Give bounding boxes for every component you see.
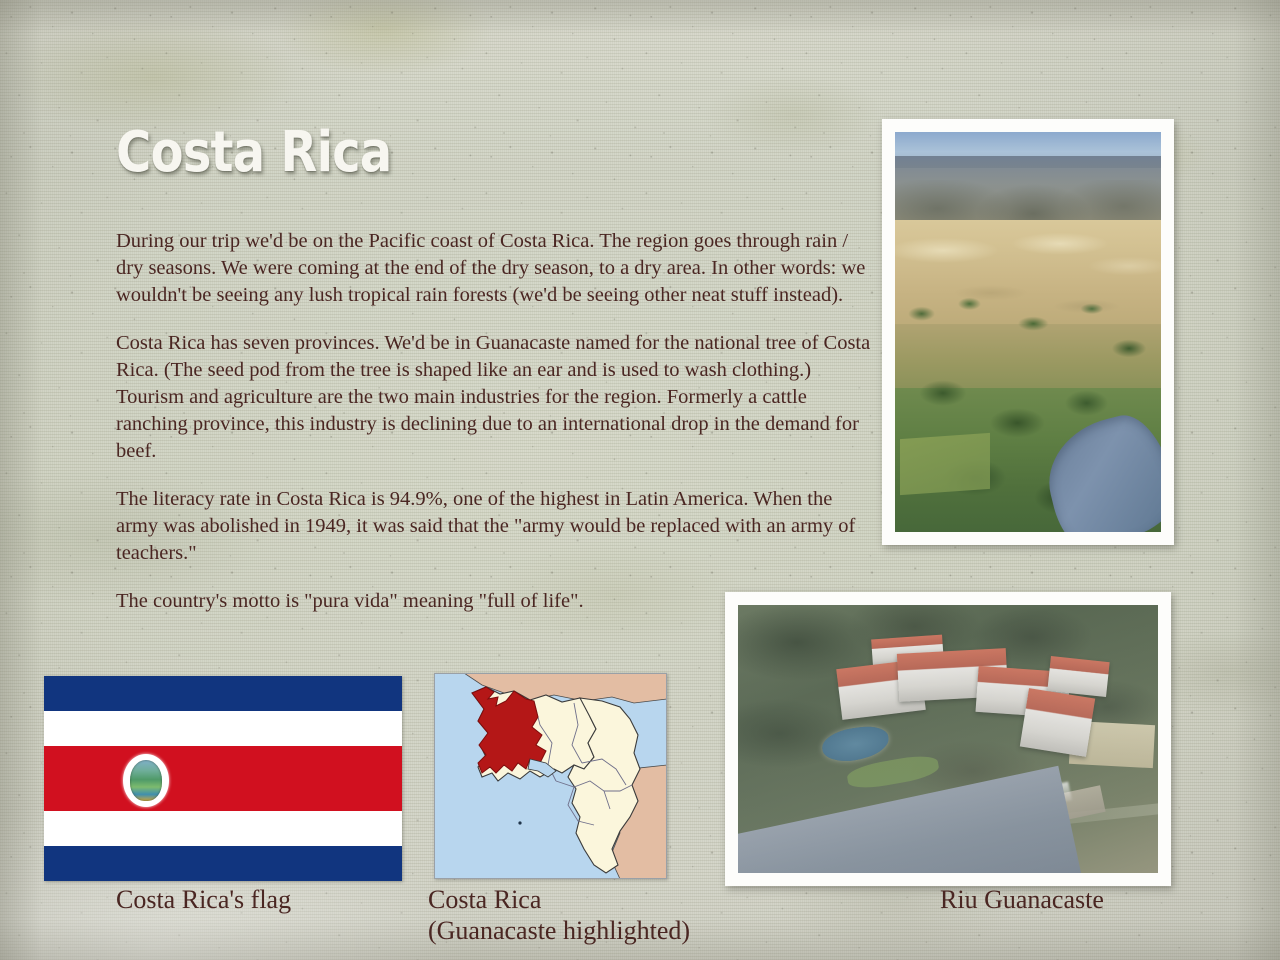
riu-guanacaste-resort-photo (725, 592, 1171, 886)
flag-stripe-white-bottom (44, 811, 402, 846)
caption-map: Costa Rica (Guanacaste highlighted) (428, 884, 690, 946)
paragraph-intro: During our trip we'd be on the Pacific c… (116, 228, 876, 309)
map-svg (434, 673, 667, 879)
flag-stripe-blue-bottom (44, 846, 402, 881)
guanacaste-landscape-photo (882, 119, 1174, 545)
body-text-block: During our trip we'd be on the Pacific c… (116, 228, 876, 615)
paragraph-provinces: Costa Rica has seven provinces. We'd be … (116, 330, 876, 465)
map-island-dot (518, 821, 521, 824)
costa-rica-province-map (434, 673, 667, 879)
caption-flag: Costa Rica's flag (116, 884, 291, 915)
landscape-photo-image (895, 132, 1161, 532)
costa-rica-flag (44, 676, 402, 881)
flag-stripe-red (44, 746, 402, 812)
coat-of-arms-icon (123, 754, 170, 807)
landscape-field (900, 433, 990, 495)
resort-atmospheric-haze (738, 605, 1158, 873)
paragraph-literacy: The literacy rate in Costa Rica is 94.9%… (116, 486, 876, 567)
flag-stripe-white-top (44, 711, 402, 746)
page-title: Costa Rica (116, 120, 391, 185)
flag-stripe-blue-top (44, 676, 402, 711)
coat-of-arms-emblem (130, 760, 162, 801)
resort-photo-image (738, 605, 1158, 873)
slide-canvas: Costa Rica During our trip we'd be on th… (0, 0, 1280, 960)
caption-resort: Riu Guanacaste (940, 884, 1104, 915)
